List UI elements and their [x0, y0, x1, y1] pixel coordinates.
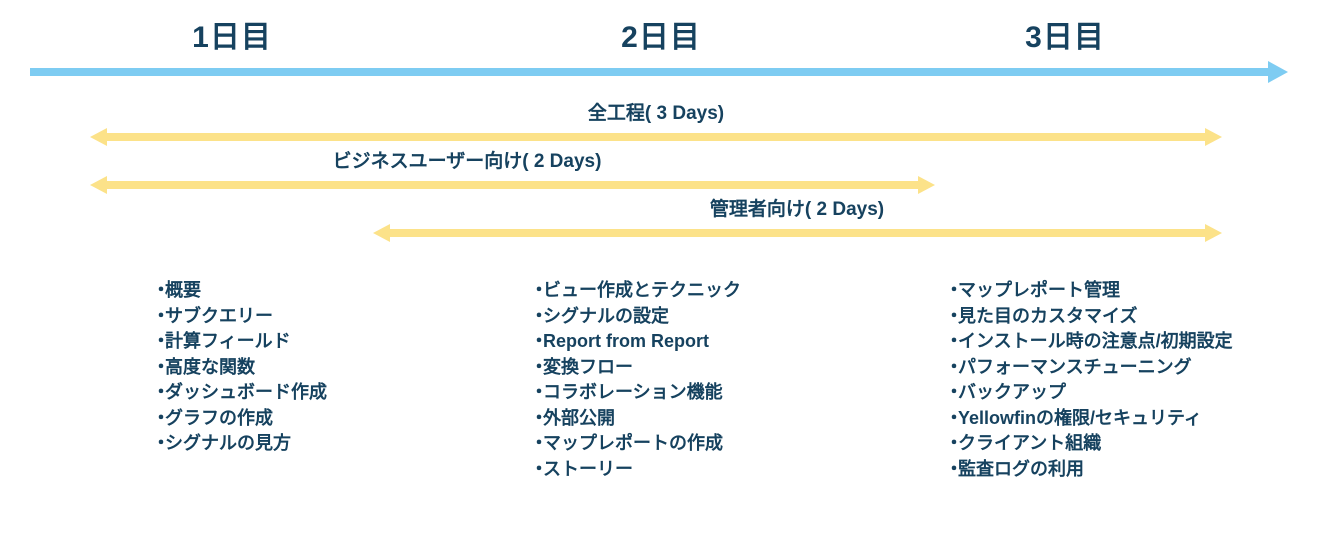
day-header-row: 1日目 2日目 3日目	[0, 18, 1337, 62]
day-header-2: 2日目	[621, 18, 701, 58]
bullet-icon: ・	[945, 304, 958, 330]
arrow-left-head-icon	[90, 128, 107, 146]
list-item: ・インストール時の注意点/初期設定	[945, 329, 1233, 355]
list-item-label: ダッシュボード作成	[165, 380, 327, 406]
list-item: ・バックアップ	[945, 380, 1233, 406]
list-item: ・ストーリー	[530, 457, 741, 483]
bullet-icon: ・	[152, 329, 165, 355]
bullet-icon: ・	[945, 380, 958, 406]
bullet-icon: ・	[152, 355, 165, 381]
arrow-right-head-icon	[1205, 128, 1222, 146]
list-item-label: クライアント組織	[958, 431, 1101, 457]
phase-label-administrator: 管理者向け( 2 Days)	[710, 197, 884, 223]
bullet-icon: ・	[530, 457, 543, 483]
arrow-shaft	[389, 229, 1206, 237]
list-item: ・コラボレーション機能	[530, 380, 741, 406]
bullet-icon: ・	[152, 304, 165, 330]
timeline-arrow-right-icon	[1268, 61, 1288, 83]
training-timeline-diagram: 1日目 2日目 3日目 全工程( 3 Days) ビジネスユーザー向け( 2 D…	[0, 0, 1337, 546]
phase-arrow-administrator	[373, 224, 1222, 242]
arrow-shaft	[106, 133, 1206, 141]
phase-bar-full-course: 全工程( 3 Days)	[90, 101, 1222, 147]
list-item: ・ビュー作成とテクニック	[530, 278, 741, 304]
list-item: ・ダッシュボード作成	[152, 380, 327, 406]
bullet-icon: ・	[530, 278, 543, 304]
list-item-label: 計算フィールド	[165, 329, 291, 355]
list-item-label: インストール時の注意点/初期設定	[958, 329, 1233, 355]
phase-bar-administrator: 管理者向け( 2 Days)	[373, 197, 1222, 243]
list-item: ・変換フロー	[530, 355, 741, 381]
arrow-left-head-icon	[373, 224, 390, 242]
topic-column-day-3: ・マップレポート管理・見た目のカスタマイズ・インストール時の注意点/初期設定・パ…	[945, 278, 1233, 482]
list-item-label: パフォーマンスチューニング	[958, 355, 1192, 381]
bullet-icon: ・	[530, 329, 543, 355]
list-item: ・Yellowfinの権限/セキュリティ	[945, 406, 1233, 432]
list-item: ・マップレポートの作成	[530, 431, 741, 457]
list-item: ・高度な関数	[152, 355, 327, 381]
phase-label-full-course: 全工程( 3 Days)	[588, 101, 724, 127]
list-item: ・計算フィールド	[152, 329, 327, 355]
arrow-right-head-icon	[1205, 224, 1222, 242]
timeline-axis	[30, 61, 1288, 83]
phase-label-business-user: ビジネスユーザー向け( 2 Days)	[333, 149, 602, 175]
list-item-label: バックアップ	[958, 380, 1066, 406]
bullet-icon: ・	[152, 380, 165, 406]
list-item: ・概要	[152, 278, 327, 304]
list-item-label: Yellowfinの権限/セキュリティ	[958, 406, 1202, 432]
bullet-icon: ・	[530, 431, 543, 457]
bullet-icon: ・	[152, 278, 165, 304]
list-item-label: 外部公開	[543, 406, 615, 432]
list-item-label: ストーリー	[543, 457, 633, 483]
bullet-icon: ・	[530, 380, 543, 406]
day-header-1: 1日目	[192, 18, 272, 58]
list-item: ・外部公開	[530, 406, 741, 432]
bullet-icon: ・	[945, 431, 958, 457]
timeline-axis-shaft	[30, 68, 1270, 76]
list-item-label: 見た目のカスタマイズ	[958, 304, 1137, 330]
list-item: ・グラフの作成	[152, 406, 327, 432]
bullet-icon: ・	[945, 329, 958, 355]
arrow-right-head-icon	[918, 176, 935, 194]
bullet-icon: ・	[945, 355, 958, 381]
list-item-label: コラボレーション機能	[543, 380, 723, 406]
arrow-left-head-icon	[90, 176, 107, 194]
arrow-shaft	[106, 181, 919, 189]
bullet-icon: ・	[945, 457, 958, 483]
phase-arrow-full-course	[90, 128, 1222, 146]
list-item: ・サブクエリー	[152, 304, 327, 330]
list-item-label: ビュー作成とテクニック	[543, 278, 741, 304]
list-item: ・見た目のカスタマイズ	[945, 304, 1233, 330]
bullet-icon: ・	[945, 406, 958, 432]
list-item-label: マップレポート管理	[958, 278, 1120, 304]
list-item: ・クライアント組織	[945, 431, 1233, 457]
bullet-icon: ・	[152, 431, 165, 457]
list-item-label: マップレポートの作成	[543, 431, 723, 457]
list-item-label: シグナルの設定	[543, 304, 669, 330]
bullet-icon: ・	[945, 278, 958, 304]
list-item: ・監査ログの利用	[945, 457, 1233, 483]
list-item: ・Report from Report	[530, 329, 741, 355]
list-item-label: Report from Report	[543, 329, 709, 355]
list-item-label: グラフの作成	[165, 406, 273, 432]
topic-column-day-1: ・概要・サブクエリー・計算フィールド・高度な関数・ダッシュボード作成・グラフの作…	[152, 278, 327, 457]
list-item-label: シグナルの見方	[165, 431, 291, 457]
phase-bar-business-user: ビジネスユーザー向け( 2 Days)	[90, 149, 935, 195]
bullet-icon: ・	[530, 406, 543, 432]
topic-column-day-2: ・ビュー作成とテクニック・シグナルの設定・Report from Report・…	[530, 278, 741, 482]
list-item-label: サブクエリー	[165, 304, 273, 330]
list-item-label: 高度な関数	[165, 355, 255, 381]
list-item-label: 概要	[165, 278, 201, 304]
list-item-label: 変換フロー	[543, 355, 633, 381]
topic-columns: ・概要・サブクエリー・計算フィールド・高度な関数・ダッシュボード作成・グラフの作…	[0, 278, 1337, 508]
day-header-3: 3日目	[1025, 18, 1105, 58]
phase-arrow-business-user	[90, 176, 935, 194]
list-item: ・シグナルの設定	[530, 304, 741, 330]
bullet-icon: ・	[530, 355, 543, 381]
bullet-icon: ・	[530, 304, 543, 330]
list-item-label: 監査ログの利用	[958, 457, 1084, 483]
bullet-icon: ・	[152, 406, 165, 432]
list-item: ・マップレポート管理	[945, 278, 1233, 304]
list-item: ・シグナルの見方	[152, 431, 327, 457]
list-item: ・パフォーマンスチューニング	[945, 355, 1233, 381]
